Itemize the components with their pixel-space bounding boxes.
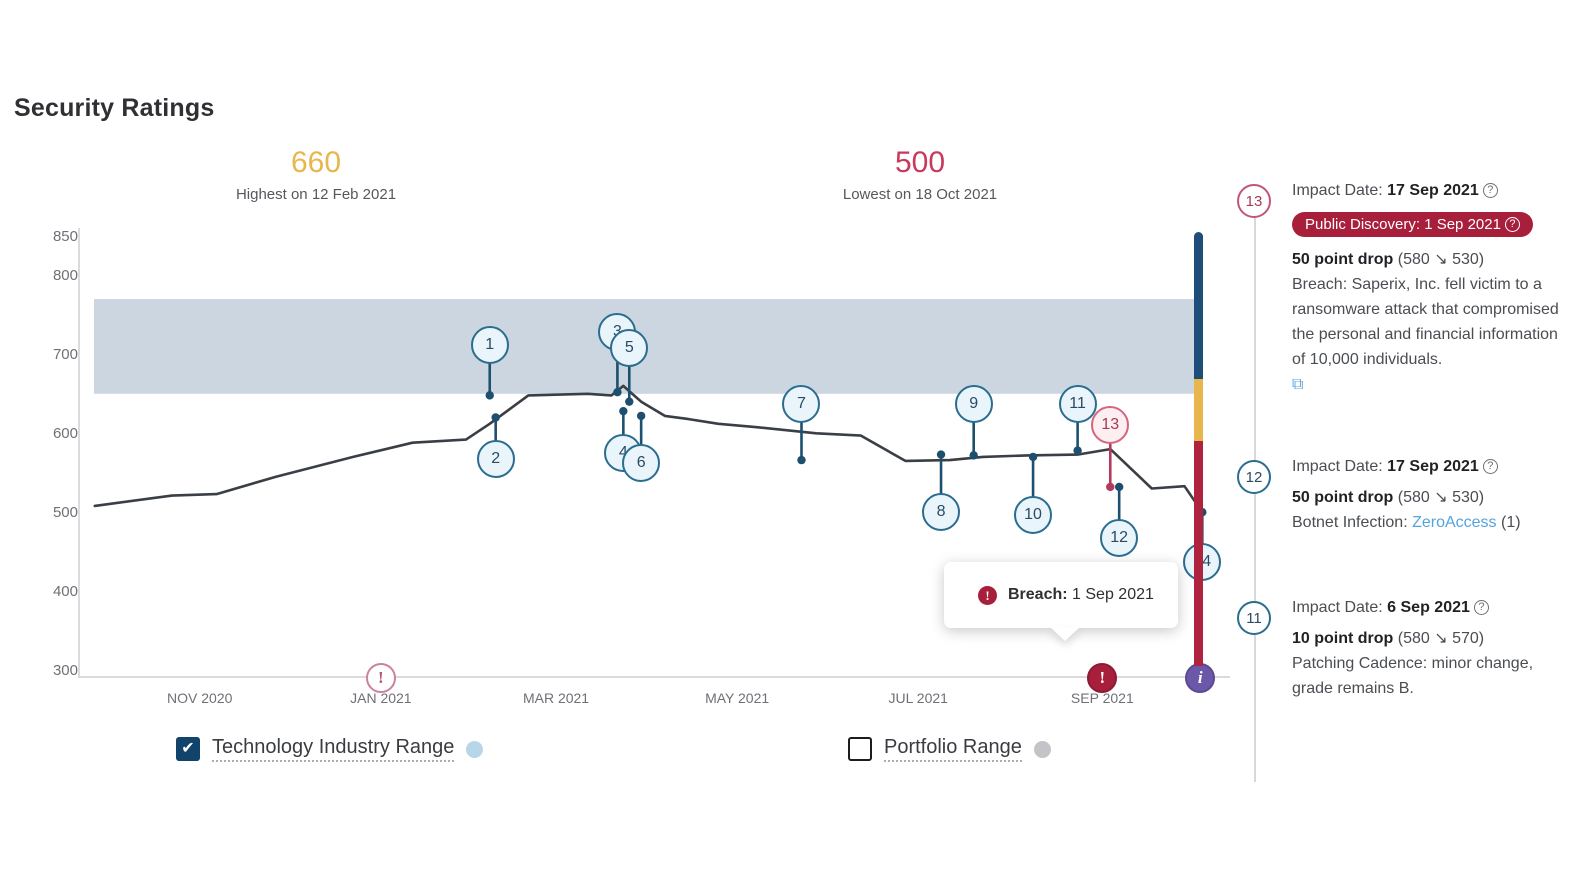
impact-date-value: 17 Sep 2021 (1387, 182, 1479, 199)
event-marker-2[interactable]: 2 (477, 440, 515, 478)
event-description-11: Patching Cadence: minor change, grade re… (1292, 651, 1566, 701)
stat-lowest-caption: Lowest on 18 Oct 2021 (800, 186, 1040, 203)
event-marker-12[interactable]: 12 (1100, 519, 1138, 557)
impact-date-value: 6 Sep 2021 (1387, 599, 1470, 616)
alert-icon: ! (978, 586, 997, 605)
score-drop-range: (580 ↘ 530) (1393, 489, 1484, 506)
checkbox-technology-industry-range[interactable] (176, 737, 200, 761)
score-drop-amount: 10 point drop (1292, 630, 1393, 647)
event-marker-9[interactable]: 9 (955, 385, 993, 423)
marker-anchor-11 (1073, 446, 1081, 454)
impact-date-value: 17 Sep 2021 (1387, 458, 1479, 475)
marker-anchor-4 (619, 407, 627, 415)
checkbox-portfolio-range[interactable] (848, 737, 872, 761)
y-tick-800: 800 (28, 267, 78, 284)
y-tick-500: 500 (28, 504, 78, 521)
color-swatch-technology (466, 741, 483, 758)
grade-segment-b (1194, 379, 1203, 441)
score-drop-amount: 50 point drop (1292, 251, 1393, 268)
breach-tooltip: ! Breach: 1 Sep 2021 (944, 562, 1178, 628)
event-entry-11: 11Impact Date: 6 Sep 2021?10 point drop … (1246, 595, 1566, 701)
marker-anchor-9 (969, 451, 977, 459)
tooltip-label: Breach: (1008, 586, 1068, 603)
x-tick-may-2021: MAY 2021 (705, 690, 769, 706)
event-marker-13[interactable]: 13 (1091, 406, 1129, 444)
grade-segment-a (1194, 232, 1203, 379)
event-marker-6[interactable]: 6 (622, 444, 660, 482)
legend-label-portfolio: Portfolio Range (884, 736, 1022, 762)
event-marker-5[interactable]: 5 (610, 329, 648, 367)
chart-legend: Technology Industry Range Portfolio Rang… (176, 736, 1076, 768)
y-tick-850: 850 (28, 228, 78, 245)
y-tick-400: 400 (28, 583, 78, 600)
event-badge-13[interactable]: 13 (1237, 184, 1271, 218)
impact-date-label: Impact Date: (1292, 182, 1387, 199)
public-discovery-badge: Public Discovery: 1 Sep 2021? (1292, 212, 1533, 237)
help-icon[interactable]: ? (1505, 217, 1520, 232)
marker-anchor-6 (637, 412, 645, 420)
event-badge-11[interactable]: 11 (1237, 601, 1271, 635)
event-impact-date-13: Impact Date: 17 Sep 2021? (1292, 178, 1566, 203)
marker-anchor-5 (625, 397, 633, 405)
grade-segment-c (1194, 441, 1203, 666)
legend-label-technology: Technology Industry Range (212, 736, 454, 762)
event-list: 13Impact Date: 17 Sep 2021?Public Discov… (1246, 178, 1566, 701)
color-swatch-portfolio (1034, 741, 1051, 758)
marker-anchor-3 (613, 388, 621, 396)
marker-anchor-10 (1029, 453, 1037, 461)
page-title: Security Ratings (14, 94, 214, 123)
stat-highest-value: 660 (196, 146, 436, 180)
event-entry-13: 13Impact Date: 17 Sep 2021?Public Discov… (1246, 178, 1566, 394)
stat-highest-rating: 660 Highest on 12 Feb 2021 (196, 146, 436, 203)
score-drop-range: (580 ↘ 530) (1393, 251, 1484, 268)
impact-date-label: Impact Date: (1292, 599, 1387, 616)
marker-anchor-13 (1106, 483, 1114, 491)
public-discovery-text: Public Discovery: 1 Sep 2021 (1305, 216, 1501, 233)
event-marker-7[interactable]: 7 (782, 385, 820, 423)
event-score-drop-13: 50 point drop (580 ↘ 530) (1292, 247, 1566, 272)
x-tick-nov-2020: NOV 2020 (167, 690, 232, 706)
marker-anchor-12 (1115, 483, 1123, 491)
event-marker-1[interactable]: 1 (471, 326, 509, 364)
marker-anchor-1 (486, 391, 494, 399)
external-link-icon[interactable]: ⧉ (1292, 376, 1303, 394)
help-icon[interactable]: ? (1483, 183, 1498, 198)
score-drop-amount: 50 point drop (1292, 489, 1393, 506)
event-entry-12: 12Impact Date: 17 Sep 2021?50 point drop… (1246, 454, 1566, 535)
description-prefix: Botnet Infection: (1292, 514, 1412, 531)
stat-lowest-rating: 500 Lowest on 18 Oct 2021 (800, 146, 1040, 203)
event-impact-date-11: Impact Date: 6 Sep 2021? (1292, 595, 1566, 620)
event-marker-10[interactable]: 10 (1014, 496, 1052, 534)
event-impact-date-12: Impact Date: 17 Sep 2021? (1292, 454, 1566, 479)
grade-scale-bar (1194, 232, 1203, 674)
event-description-13: Breach: Saperix, Inc. fell victim to a r… (1292, 272, 1566, 372)
event-marker-11[interactable]: 11 (1059, 385, 1097, 423)
security-ratings-page: Security Ratings 660 Highest on 12 Feb 2… (0, 0, 1580, 890)
x-tick-mar-2021: MAR 2021 (523, 690, 589, 706)
y-tick-300: 300 (28, 662, 78, 679)
marker-anchor-8 (937, 450, 945, 458)
legend-item-portfolio-range[interactable]: Portfolio Range (848, 736, 1051, 762)
event-timeline-panel: 13Impact Date: 17 Sep 2021?Public Discov… (1246, 178, 1566, 778)
event-marker-8[interactable]: 8 (922, 493, 960, 531)
marker-anchor-7 (797, 456, 805, 464)
score-drop-range: (580 ↘ 570) (1393, 630, 1484, 647)
tooltip-date: 1 Sep 2021 (1072, 586, 1154, 603)
event-score-drop-11: 10 point drop (580 ↘ 570) (1292, 626, 1566, 651)
tooltip-arrow (1050, 627, 1080, 641)
help-icon[interactable]: ? (1483, 459, 1498, 474)
tooltip-text: Breach: 1 Sep 2021 (1008, 586, 1154, 604)
event-score-drop-12: 50 point drop (580 ↘ 530) (1292, 485, 1566, 510)
y-tick-700: 700 (28, 346, 78, 363)
description-suffix: (1) (1497, 514, 1521, 531)
event-badge-12[interactable]: 12 (1237, 460, 1271, 494)
marker-anchor-2 (491, 413, 499, 421)
event-description-12: Botnet Infection: ZeroAccess (1) (1292, 510, 1566, 535)
stat-highest-caption: Highest on 12 Feb 2021 (196, 186, 436, 203)
stat-lowest-value: 500 (800, 146, 1040, 180)
help-icon[interactable]: ? (1474, 600, 1489, 615)
y-tick-600: 600 (28, 425, 78, 442)
botnet-link[interactable]: ZeroAccess (1412, 514, 1496, 531)
alert-icon[interactable]: ! (366, 663, 396, 693)
impact-date-label: Impact Date: (1292, 458, 1387, 475)
x-tick-jul-2021: JUL 2021 (889, 690, 948, 706)
legend-item-technology-industry-range[interactable]: Technology Industry Range (176, 736, 483, 762)
alert-icon[interactable]: ! (1087, 663, 1117, 693)
